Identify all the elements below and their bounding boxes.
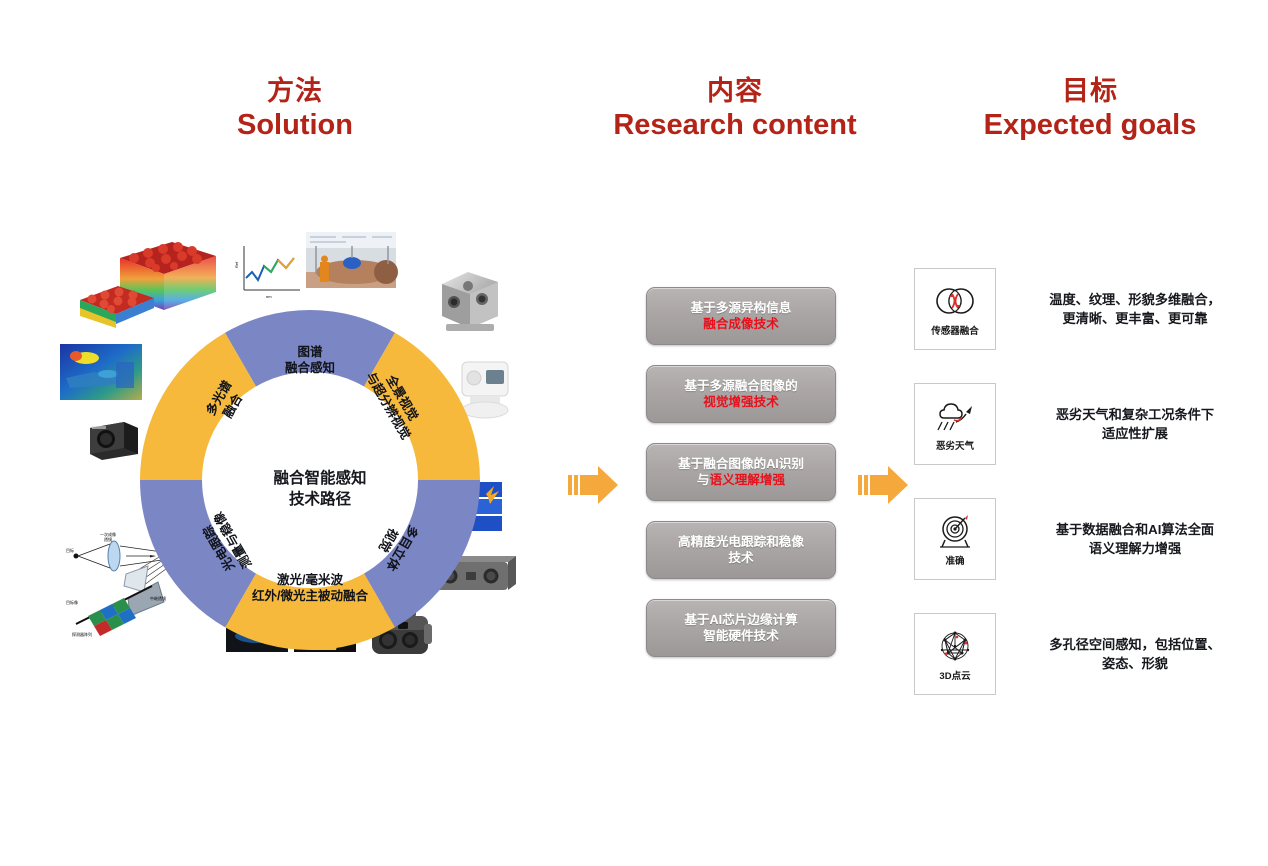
column-header-content: 内容 Research content [590, 76, 880, 142]
donut-chart: 图谱 融合感知 全景视觉 与超分辨视觉 多目立体 视觉 激光/毫米波 红外/微光… [130, 300, 490, 660]
column-header-solution-en: Solution [180, 108, 410, 142]
wheel-center-label: 融合智能感知 技术路径 [200, 455, 440, 525]
goal-text-accurate-line1: 基于数据融合和AI算法全面 [1020, 520, 1250, 539]
goal-card-caption-point-cloud: 3D点云 [939, 668, 970, 682]
goal-text-bad-weather-line1: 恶劣天气和复杂工况条件下 [1020, 405, 1250, 424]
research-box-4-line1: 高精度光电跟踪和稳像 [678, 534, 804, 550]
goal-row-sensor-fusion: 传感器融合 温度、纹理、形貌多维融合， 更清晰、更丰富、更可靠 [914, 268, 1254, 350]
goal-card-caption-bad-weather: 恶劣天气 [936, 438, 974, 452]
goal-text-sensor-fusion-line2: 更清晰、更丰富、更可靠 [1020, 309, 1250, 328]
goal-text-bad-weather: 恶劣天气和复杂工况条件下 适应性扩展 [1020, 405, 1250, 443]
venn-fusion-icon [932, 281, 978, 321]
goal-text-accurate: 基于数据融合和AI算法全面 语义理解力增强 [1020, 520, 1250, 558]
goal-card-sensor-fusion[interactable]: 传感器融合 [914, 268, 996, 350]
goal-card-caption-sensor-fusion: 传感器融合 [931, 323, 979, 337]
research-content-list: 基于多源异构信息 融合成像技术 基于多源融合图像的 视觉增强技术 基于融合图像的… [646, 287, 836, 677]
column-header-solution: 方法 Solution [180, 76, 410, 142]
goal-row-accurate: 准确 基于数据融合和AI算法全面 语义理解力增强 [914, 498, 1254, 580]
solution-wheel: Ref nm [120, 290, 500, 680]
goal-text-bad-weather-line2: 适应性扩展 [1020, 424, 1250, 443]
research-box-4[interactable]: 高精度光电跟踪和稳像 技术 [646, 521, 836, 579]
research-box-1-line1: 基于多源异构信息 [691, 300, 792, 316]
goal-card-accurate[interactable]: 准确 [914, 498, 996, 580]
svg-text:目标: 目标 [66, 547, 74, 553]
goal-text-accurate-line2: 语义理解力增强 [1020, 539, 1250, 558]
target-dart-icon [932, 511, 978, 551]
column-header-content-en: Research content [590, 108, 880, 142]
research-box-3-line1: 基于融合图像的AI识别 [678, 456, 804, 472]
spectral-curve-plot-image: Ref nm [234, 246, 300, 299]
column-header-goals-cn: 目标 [930, 76, 1250, 108]
goal-text-sensor-fusion: 温度、纹理、形貌多维融合， 更清晰、更丰富、更可靠 [1020, 290, 1250, 328]
expected-goals-list: 传感器融合 温度、纹理、形貌多维融合， 更清晰、更丰富、更可靠 恶劣天气 恶劣天… [914, 268, 1254, 728]
arrow-solution-to-content [566, 462, 622, 508]
research-box-3-prefix: 与 [697, 473, 710, 487]
research-box-1-line2: 融合成像技术 [703, 316, 779, 332]
wheel-center-line1: 融合智能感知 [273, 469, 366, 490]
point-cloud-sphere-icon [932, 626, 978, 666]
goal-text-sensor-fusion-line1: 温度、纹理、形貌多维融合， [1020, 290, 1250, 309]
research-box-3-highlight: 语义理解增强 [710, 473, 786, 487]
rain-cloud-icon [932, 396, 978, 436]
research-box-5-line2: 智能硬件技术 [703, 628, 779, 644]
research-box-5[interactable]: 基于AI芯片边缘计算 智能硬件技术 [646, 599, 836, 657]
wheel-center-line2: 技术路径 [289, 490, 351, 511]
research-box-4-line2: 技术 [728, 550, 753, 566]
goal-card-point-cloud[interactable]: 3D点云 [914, 613, 996, 695]
svg-text:目标像: 目标像 [66, 599, 78, 605]
column-header-goals: 目标 Expected goals [930, 76, 1250, 142]
goal-text-point-cloud: 多孔径空间感知，包括位置、 姿态、形貌 [1020, 635, 1250, 673]
research-box-3-line2: 与语义理解增强 [697, 472, 785, 488]
goal-text-point-cloud-line2: 姿态、形貌 [1020, 654, 1250, 673]
column-header-goals-en: Expected goals [930, 108, 1250, 142]
column-header-solution-cn: 方法 [180, 76, 410, 108]
research-box-5-line1: 基于AI芯片边缘计算 [684, 612, 797, 628]
goal-row-point-cloud: 3D点云 多孔径空间感知，包括位置、 姿态、形貌 [914, 613, 1254, 695]
arrow-content-to-goals [856, 462, 912, 508]
goal-card-bad-weather[interactable]: 恶劣天气 [914, 383, 996, 465]
goal-row-bad-weather: 恶劣天气 恶劣天气和复杂工况条件下 适应性扩展 [914, 383, 1254, 465]
research-box-2[interactable]: 基于多源融合图像的 视觉增强技术 [646, 365, 836, 423]
research-box-1[interactable]: 基于多源异构信息 融合成像技术 [646, 287, 836, 345]
svg-text:Ref: Ref [234, 261, 239, 268]
research-box-3[interactable]: 基于融合图像的AI识别 与语义理解增强 [646, 443, 836, 501]
svg-text:探测器阵列: 探测器阵列 [72, 631, 92, 637]
svg-text:nm: nm [266, 294, 272, 299]
research-box-2-line1: 基于多源融合图像的 [684, 378, 797, 394]
research-box-2-line2: 视觉增强技术 [703, 394, 779, 410]
goal-text-point-cloud-line1: 多孔径空间感知，包括位置、 [1020, 635, 1250, 654]
svg-text:透镜: 透镜 [104, 536, 112, 542]
column-header-content-cn: 内容 [590, 76, 880, 108]
industrial-pipeline-photo-image [306, 232, 398, 288]
goal-card-caption-accurate: 准确 [945, 553, 964, 567]
